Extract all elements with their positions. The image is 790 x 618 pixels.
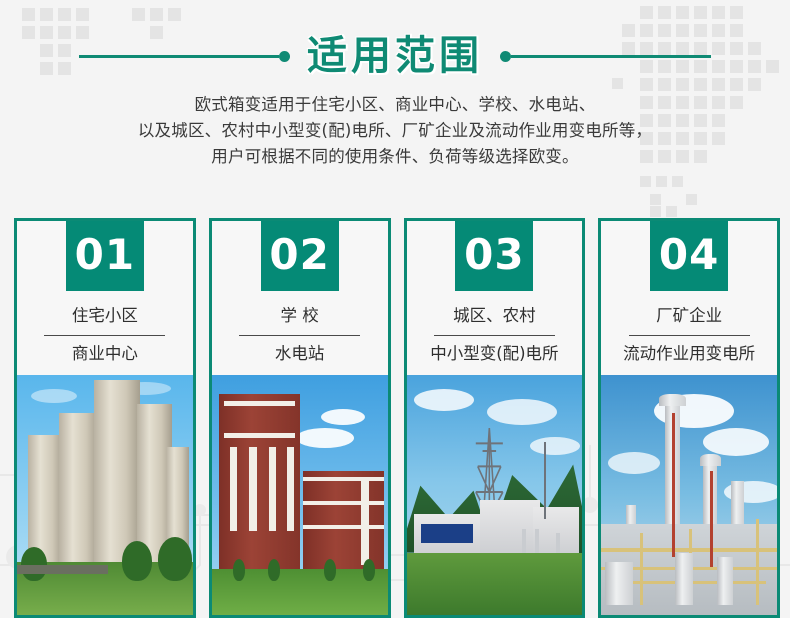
card-subtitle: 水电站 — [218, 339, 382, 369]
card-thumbnail-substation — [407, 375, 583, 615]
card-number-badge: 01 — [66, 218, 144, 291]
card-thumbnail-refinery — [601, 375, 777, 615]
application-card-1[interactable]: 01 住宅小区 商业中心 — [14, 218, 196, 618]
page-title-row: 适用范围 — [0, 28, 790, 84]
card-title: 住宅小区 — [23, 301, 187, 333]
card-divider — [434, 335, 555, 336]
card-number: 03 — [464, 234, 524, 276]
title-rule-left — [79, 55, 279, 58]
card-subtitle: 流动作业用变电所 — [607, 339, 771, 369]
card-labels: 城区、农村 中小型变(配)电所 — [407, 291, 583, 369]
card-labels: 厂矿企业 流动作业用变电所 — [601, 291, 777, 369]
card-number: 04 — [659, 234, 719, 276]
title-dot-right — [500, 51, 511, 62]
card-labels: 学 校 水电站 — [212, 291, 388, 369]
card-labels: 住宅小区 商业中心 — [17, 291, 193, 369]
application-card-2[interactable]: 02 学 校 水电站 — [209, 218, 391, 618]
card-thumbnail-school — [212, 375, 388, 615]
application-card-3[interactable]: 03 城区、农村 中小型变(配)电所 — [404, 218, 586, 618]
card-title: 学 校 — [218, 301, 382, 333]
card-number-badge: 02 — [261, 218, 339, 291]
application-cards: 01 住宅小区 商业中心 — [14, 218, 780, 618]
card-divider — [629, 335, 750, 336]
card-number-badge: 04 — [650, 218, 728, 291]
card-number: 02 — [269, 234, 329, 276]
card-title: 厂矿企业 — [607, 301, 771, 333]
page-title: 适用范围 — [290, 36, 500, 76]
card-title: 城区、农村 — [413, 301, 577, 333]
intro-line-3: 用户可根据不同的使用条件、负荷等级选择欧变。 — [0, 144, 790, 170]
card-subtitle: 中小型变(配)电所 — [413, 339, 577, 369]
card-subtitle: 商业中心 — [23, 339, 187, 369]
application-card-4[interactable]: 04 厂矿企业 流动作业用变电所 — [598, 218, 780, 618]
card-thumbnail-residential — [17, 375, 193, 615]
intro-line-1: 欧式箱变适用于住宅小区、商业中心、学校、水电站、 — [0, 92, 790, 118]
card-divider — [239, 335, 360, 336]
card-number-badge: 03 — [455, 218, 533, 291]
card-number: 01 — [75, 234, 135, 276]
intro-line-2: 以及城区、农村中小型变(配)电所、厂矿企业及流动作业用变电所等， — [0, 118, 790, 144]
title-dot-left — [279, 51, 290, 62]
intro-paragraph: 欧式箱变适用于住宅小区、商业中心、学校、水电站、 以及城区、农村中小型变(配)电… — [0, 92, 790, 170]
title-rule-right — [511, 55, 711, 58]
card-divider — [44, 335, 165, 336]
